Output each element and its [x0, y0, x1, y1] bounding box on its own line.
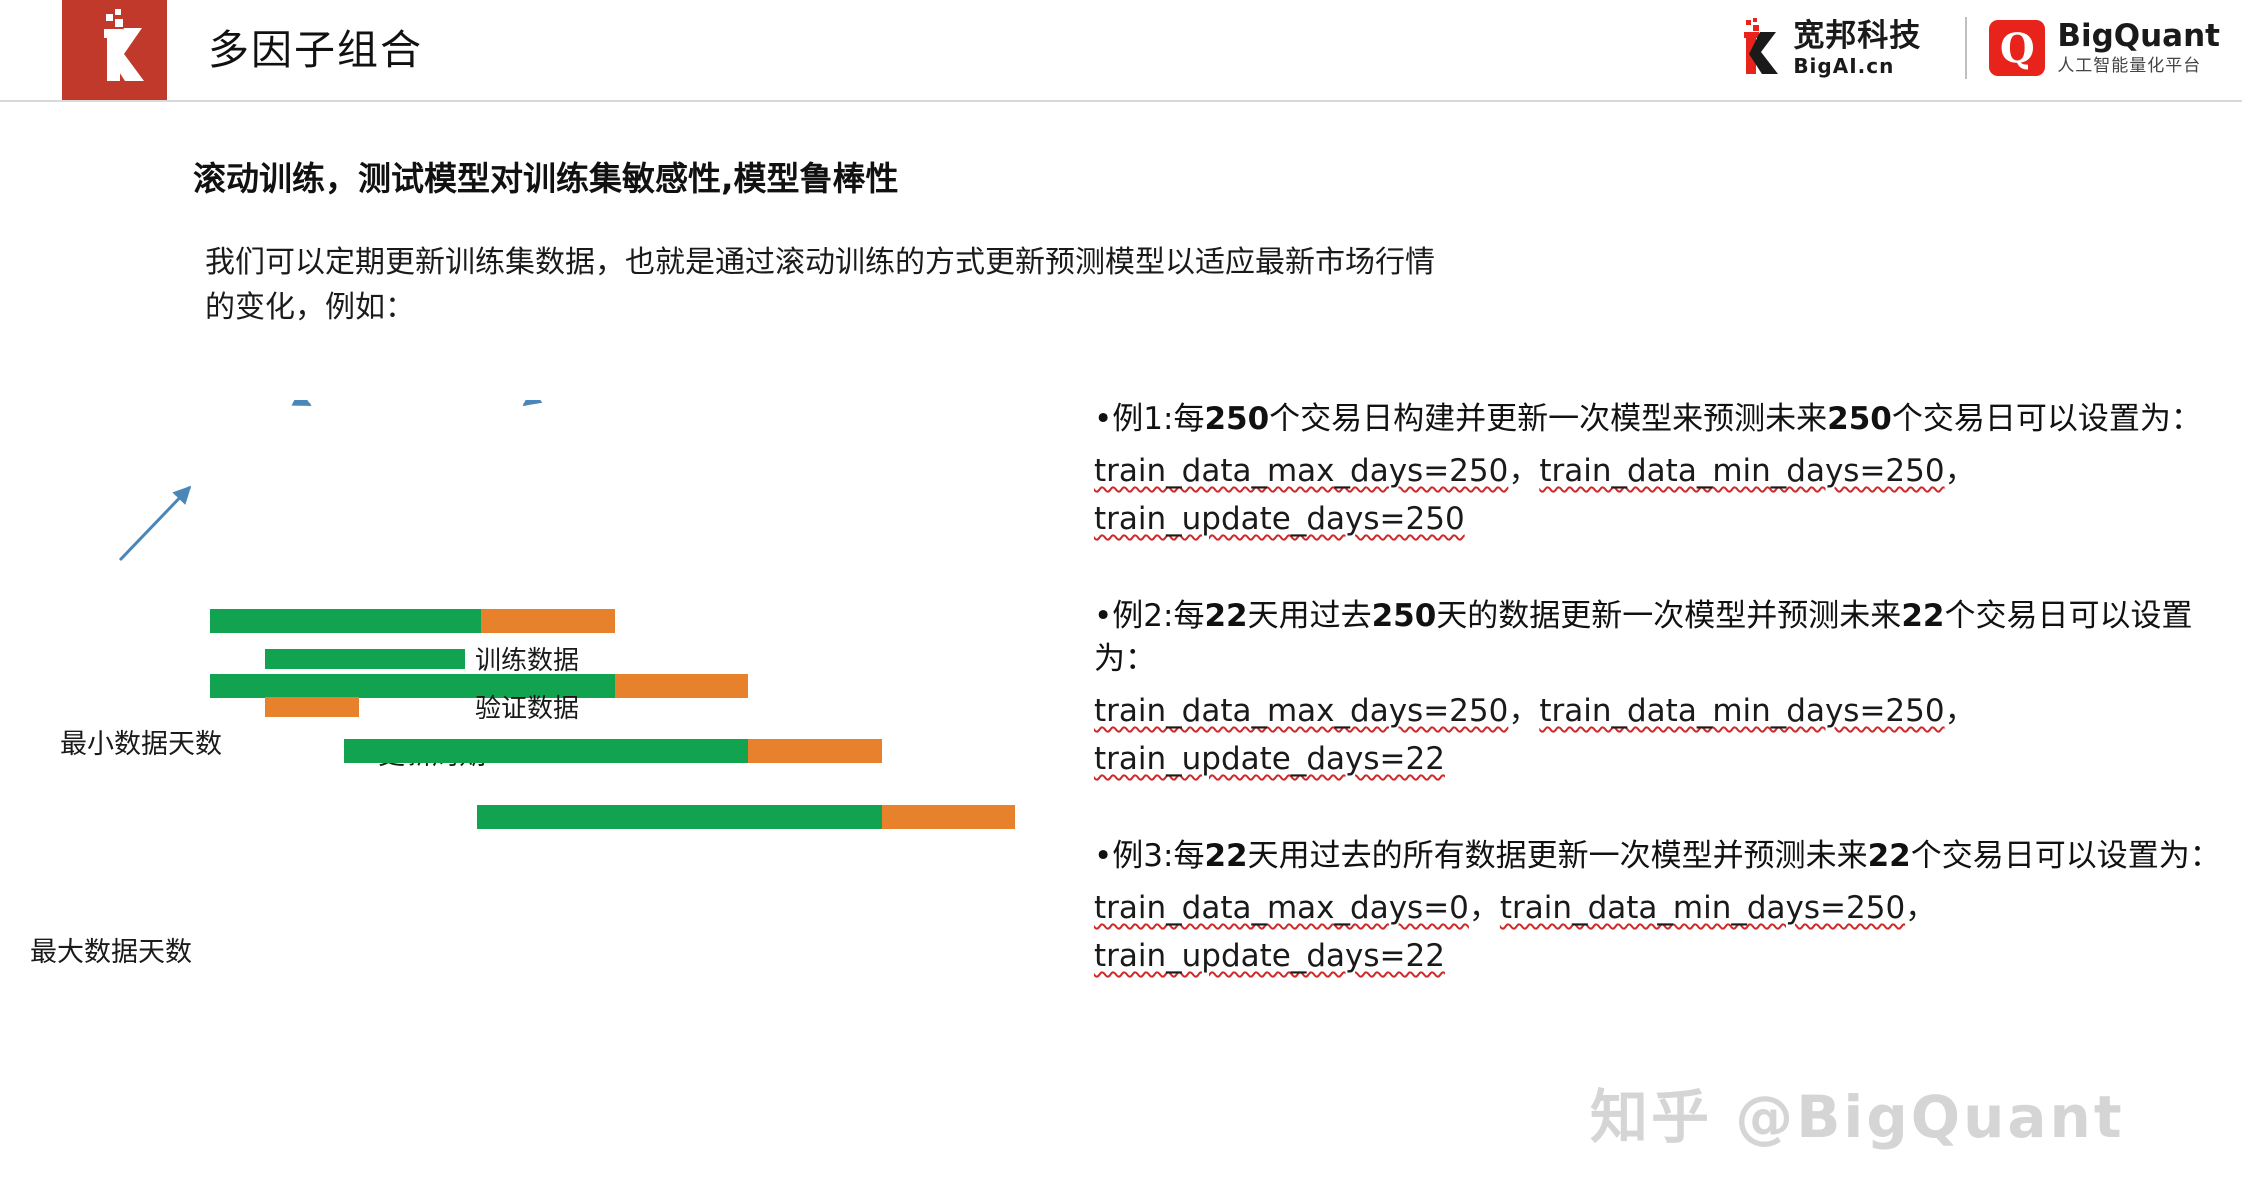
validation-segment	[748, 739, 881, 763]
bigquant-name-en: BigQuant	[2057, 21, 2220, 52]
validation-segment	[481, 609, 614, 633]
ex2-code-a: train_data_max_days=250	[1094, 693, 1508, 729]
page-title: 多因子组合	[208, 14, 423, 86]
example-1-code: train_data_max_days=250，train_data_min_d…	[1094, 447, 2224, 543]
ex1-code-c: train_update_days=250	[1094, 501, 1465, 537]
example-3-heading: •例3:每22天用过去的所有数据更新一次模型并预测未来22个交易日可以设置为：	[1094, 835, 2224, 878]
ex2-head-mid2: 天的数据更新一次模型并预测未来	[1436, 598, 1901, 634]
lead-line-2: 的变化，例如：	[205, 285, 1945, 330]
example-1-heading: •例1:每250个交易日构建并更新一次模型来预测未来250个交易日可以设置为：	[1094, 398, 2224, 441]
validation-segment	[615, 674, 748, 698]
brand-cluster: 宽邦科技 BigAI.cn Q BigQuant 人工智能量化平台	[1732, 8, 2220, 88]
bigquant-tagline-cn: 人工智能量化平台	[2057, 58, 2220, 75]
example-2: •例2:每22天用过去250天的数据更新一次模型并预测未来22个交易日可以设置为…	[1094, 595, 2224, 783]
ex1-head-prefix: •例1:每	[1094, 401, 1204, 437]
ex2-bold-1: 22	[1204, 598, 1247, 634]
train-segment	[344, 739, 749, 763]
ex2-code-b: train_data_min_days=250	[1539, 693, 1944, 729]
ex2-head-prefix: •例2:每	[1094, 598, 1204, 634]
ex1-bold-1: 250	[1204, 401, 1269, 437]
section-lead: 我们可以定期更新训练集数据，也就是通过滚动训练的方式更新预测模型以适应最新市场行…	[205, 240, 1945, 330]
ex2-head-mid: 天用过去	[1248, 598, 1372, 634]
kuangbang-k-icon	[1732, 18, 1784, 78]
bigquant-q-icon: Q	[1989, 20, 2045, 76]
ex2-code-c: train_update_days=22	[1094, 741, 1445, 777]
ex2-bold-3: 22	[1901, 598, 1944, 634]
example-1: •例1:每250个交易日构建并更新一次模型来预测未来250个交易日可以设置为： …	[1094, 398, 2224, 543]
header-divider	[0, 100, 2242, 102]
zhihu-watermark: 知乎 @BigQuant	[1590, 1070, 2125, 1154]
lead-line-1: 我们可以定期更新训练集数据，也就是通过滚动训练的方式更新预测模型以适应最新市场行…	[205, 240, 1945, 285]
rolling-training-diagram: 最小数据天数 更新周期 最大数据天数 训练数据验证数据	[0, 400, 1060, 1150]
ex2-code-sep: ，	[1508, 693, 1539, 729]
legend-valid: 验证数据	[265, 688, 579, 725]
diagram-arrows	[0, 400, 1060, 1150]
kuangbang-name-en: BigAI.cn	[1793, 56, 1921, 76]
ex1-head-suffix: 个交易日可以设置为：	[1892, 401, 2202, 437]
legend-label: 验证数据	[475, 688, 579, 725]
rolling-window-row-4	[0, 805, 1060, 829]
ex3-bold-2: 22	[1868, 838, 1911, 874]
ex2-bold-2: 250	[1372, 598, 1437, 634]
ex1-head-mid: 个交易日构建并更新一次模型来预测未来	[1269, 401, 1827, 437]
example-2-code: train_data_max_days=250，train_data_min_d…	[1094, 687, 2224, 783]
ex3-code-sep: ，	[1469, 890, 1500, 926]
ex3-head-mid: 天用过去的所有数据更新一次模型并预测未来	[1248, 838, 1868, 874]
ex3-head-suffix: 个交易日可以设置为：	[1911, 838, 2221, 874]
ex1-bold-2: 250	[1827, 401, 1892, 437]
ex3-code-b: train_data_min_days=250	[1500, 890, 1905, 926]
brand-divider	[1965, 17, 1967, 79]
ex1-code-b: train_data_min_days=250	[1539, 453, 1944, 489]
label-max-days: 最大数据天数	[30, 930, 192, 969]
ex1-code-tail: ，	[1945, 453, 1976, 489]
ex3-head-prefix: •例3:每	[1094, 838, 1204, 874]
example-3: •例3:每22天用过去的所有数据更新一次模型并预测未来22个交易日可以设置为： …	[1094, 835, 2224, 980]
examples-column: •例1:每250个交易日构建并更新一次模型来预测未来250个交易日可以设置为： …	[1094, 398, 2224, 1032]
ex3-bold-1: 22	[1204, 838, 1247, 874]
example-3-code: train_data_max_days=0，train_data_min_day…	[1094, 884, 2224, 980]
rolling-window-row-3	[0, 739, 1060, 763]
train-segment	[477, 805, 882, 829]
validation-segment	[882, 805, 1015, 829]
bigquant-brand: Q BigQuant 人工智能量化平台	[1989, 20, 2220, 76]
legend-swatch	[265, 649, 465, 669]
ex1-code-a: train_data_max_days=250	[1094, 453, 1508, 489]
kuangbang-name-cn: 宽邦科技	[1793, 21, 1921, 52]
section-headline: 滚动训练，测试模型对训练集敏感性,模型鲁棒性	[193, 152, 899, 200]
rolling-window-row-1	[0, 609, 1060, 633]
ex3-code-c: train_update_days=22	[1094, 938, 1445, 974]
page-header: 多因子组合 宽邦科技 BigAI.cn Q Big	[0, 0, 2242, 100]
kuangbang-brand: 宽邦科技 BigAI.cn	[1732, 18, 1943, 78]
example-2-heading: •例2:每22天用过去250天的数据更新一次模型并预测未来22个交易日可以设置为…	[1094, 595, 2224, 681]
ex2-code-tail: ，	[1945, 693, 1976, 729]
k-logo-icon	[62, 0, 167, 100]
ex1-code-sep: ，	[1508, 453, 1539, 489]
legend-label: 训练数据	[475, 640, 579, 677]
legend-swatch	[265, 697, 359, 717]
legend-train: 训练数据	[265, 640, 579, 677]
ex3-code-tail: ，	[1905, 890, 1936, 926]
train-segment	[210, 609, 481, 633]
ex3-code-a: train_data_max_days=0	[1094, 890, 1469, 926]
